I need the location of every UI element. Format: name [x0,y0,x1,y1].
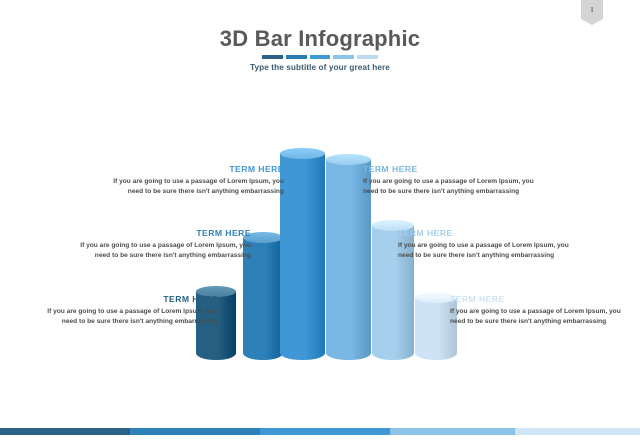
term-description: If you are going to use a passage of Lor… [363,177,549,196]
text-block-6: TERM HEREIf you are going to use a passa… [450,294,636,326]
bar-3[interactable] [280,148,325,360]
term-description: If you are going to use a passage of Lor… [98,177,284,196]
bar-chart [0,0,640,443]
footer-segment-3 [260,428,390,435]
term-description: If you are going to use a passage of Lor… [398,241,584,260]
term-heading: TERM HERE [363,164,549,175]
footer-color-bar [0,428,640,435]
text-block-4: TERM HEREIf you are going to use a passa… [363,164,549,196]
footer-segment-5 [515,428,640,435]
footer-segment-4 [390,428,515,435]
footer-segment-2 [130,428,260,435]
term-heading: TERM HERE [450,294,636,305]
term-heading: TERM HERE [65,228,251,239]
bar-top-ellipse-3 [280,148,325,159]
term-heading: TERM HERE [32,294,218,305]
term-heading: TERM HERE [98,164,284,175]
term-description: If you are going to use a passage of Lor… [450,307,636,326]
term-description: If you are going to use a passage of Lor… [32,307,218,326]
bar-body-3 [280,153,325,360]
slide-canvas: 1 3D Bar Infographic Type the subtitle o… [0,0,640,443]
term-heading: TERM HERE [398,228,584,239]
text-block-1: TERM HEREIf you are going to use a passa… [98,164,284,196]
term-description: If you are going to use a passage of Lor… [65,241,251,260]
footer-segment-1 [0,428,130,435]
text-block-5: TERM HEREIf you are going to use a passa… [398,228,584,260]
text-block-2: TERM HEREIf you are going to use a passa… [65,228,251,260]
text-block-3: TERM HEREIf you are going to use a passa… [32,294,218,326]
